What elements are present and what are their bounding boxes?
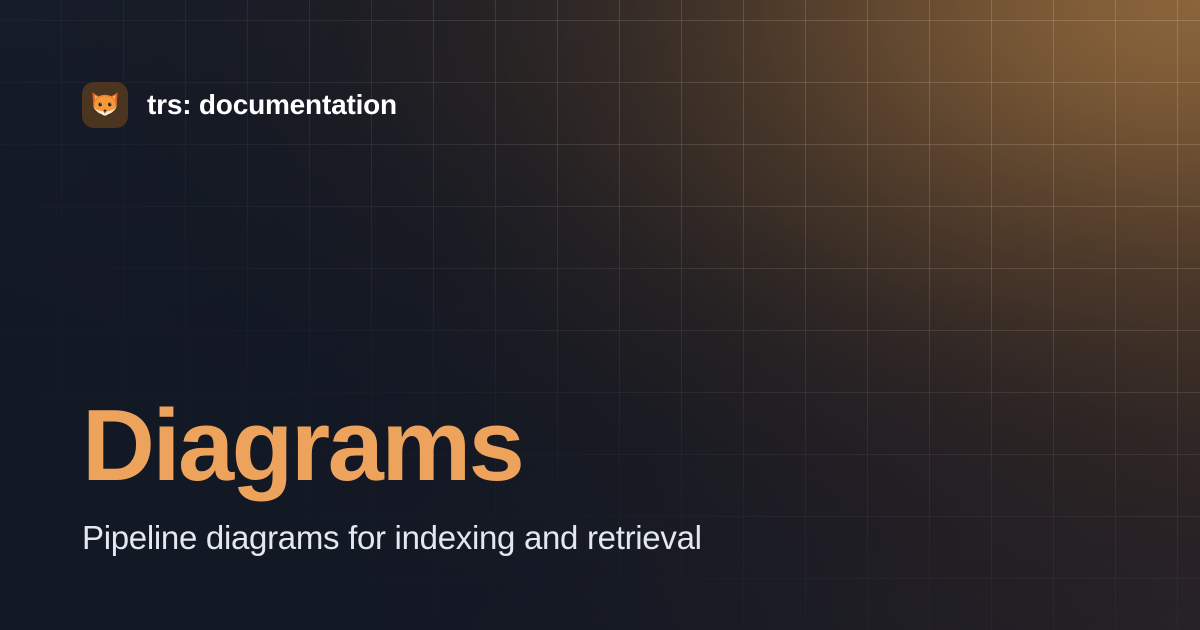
brand-title: trs: documentation bbox=[147, 91, 397, 119]
brand-lockup: trs: documentation bbox=[82, 82, 397, 128]
hero-block: Diagrams Pipeline diagrams for indexing … bbox=[82, 396, 1122, 558]
page-title: Diagrams bbox=[82, 396, 1122, 497]
page-subtitle: Pipeline diagrams for indexing and retri… bbox=[82, 519, 1122, 558]
fox-face-icon bbox=[82, 82, 128, 128]
og-card: trs: documentation Diagrams Pipeline dia… bbox=[0, 0, 1200, 630]
card-content: trs: documentation Diagrams Pipeline dia… bbox=[0, 0, 1200, 630]
